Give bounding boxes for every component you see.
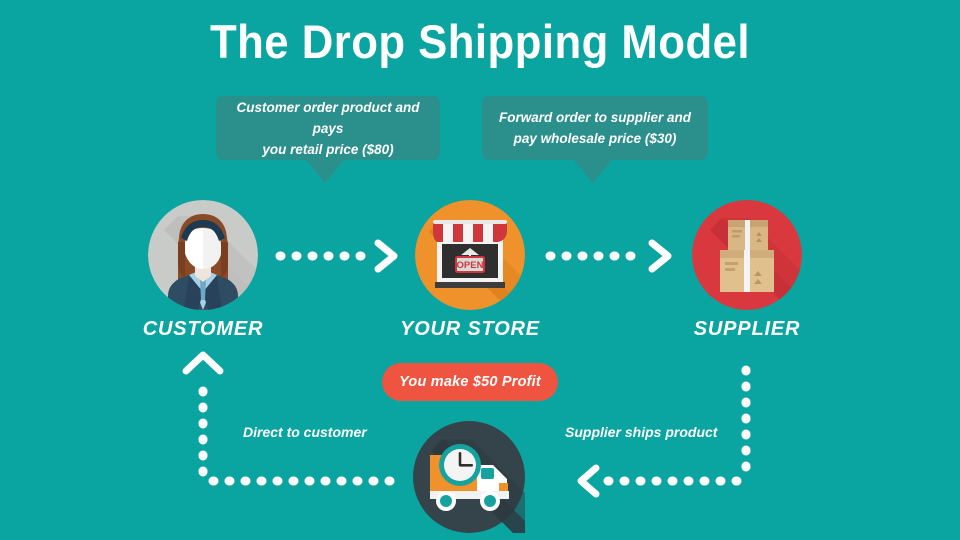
callout-line-2: you retail price ($80)	[230, 139, 426, 160]
flow-label-supplier-ships-product: Supplier ships product	[565, 424, 717, 440]
delivery-truck-icon	[413, 421, 525, 533]
arrow-customer-to-store	[280, 243, 394, 269]
callout-line-1: Forward order to supplier and	[499, 107, 691, 128]
forward-order-callout: Forward order to supplier and pay wholes…	[482, 96, 708, 160]
customer-order-callout: Customer order product and pays you reta…	[216, 96, 440, 160]
node-label-customer: CUSTOMER	[93, 318, 313, 341]
callout-line-2: pay wholesale price ($30)	[499, 128, 691, 149]
storefront-icon: OPEN	[415, 200, 525, 310]
infographic-canvas: The Drop Shipping Model Customer order p…	[0, 0, 960, 540]
node-label-store: YOUR STORE	[360, 318, 580, 341]
customer-order-callout-tail	[306, 160, 344, 183]
open-sign-text: OPEN	[457, 260, 484, 271]
page-title: The Drop Shipping Model	[34, 14, 927, 70]
flow-label-direct-to-customer: Direct to customer	[243, 424, 367, 440]
arrow-store-to-supplier	[550, 243, 668, 269]
arrow-truck-to-customer	[186, 355, 390, 481]
forward-order-callout-tail	[574, 160, 612, 183]
callout-line-1: Customer order product and pays	[230, 97, 426, 139]
profit-badge: You make $50 Profit	[382, 363, 558, 401]
node-label-supplier: SUPPLIER	[637, 318, 857, 341]
customer-avatar-icon	[148, 200, 258, 310]
cardboard-boxes-icon	[692, 200, 802, 310]
